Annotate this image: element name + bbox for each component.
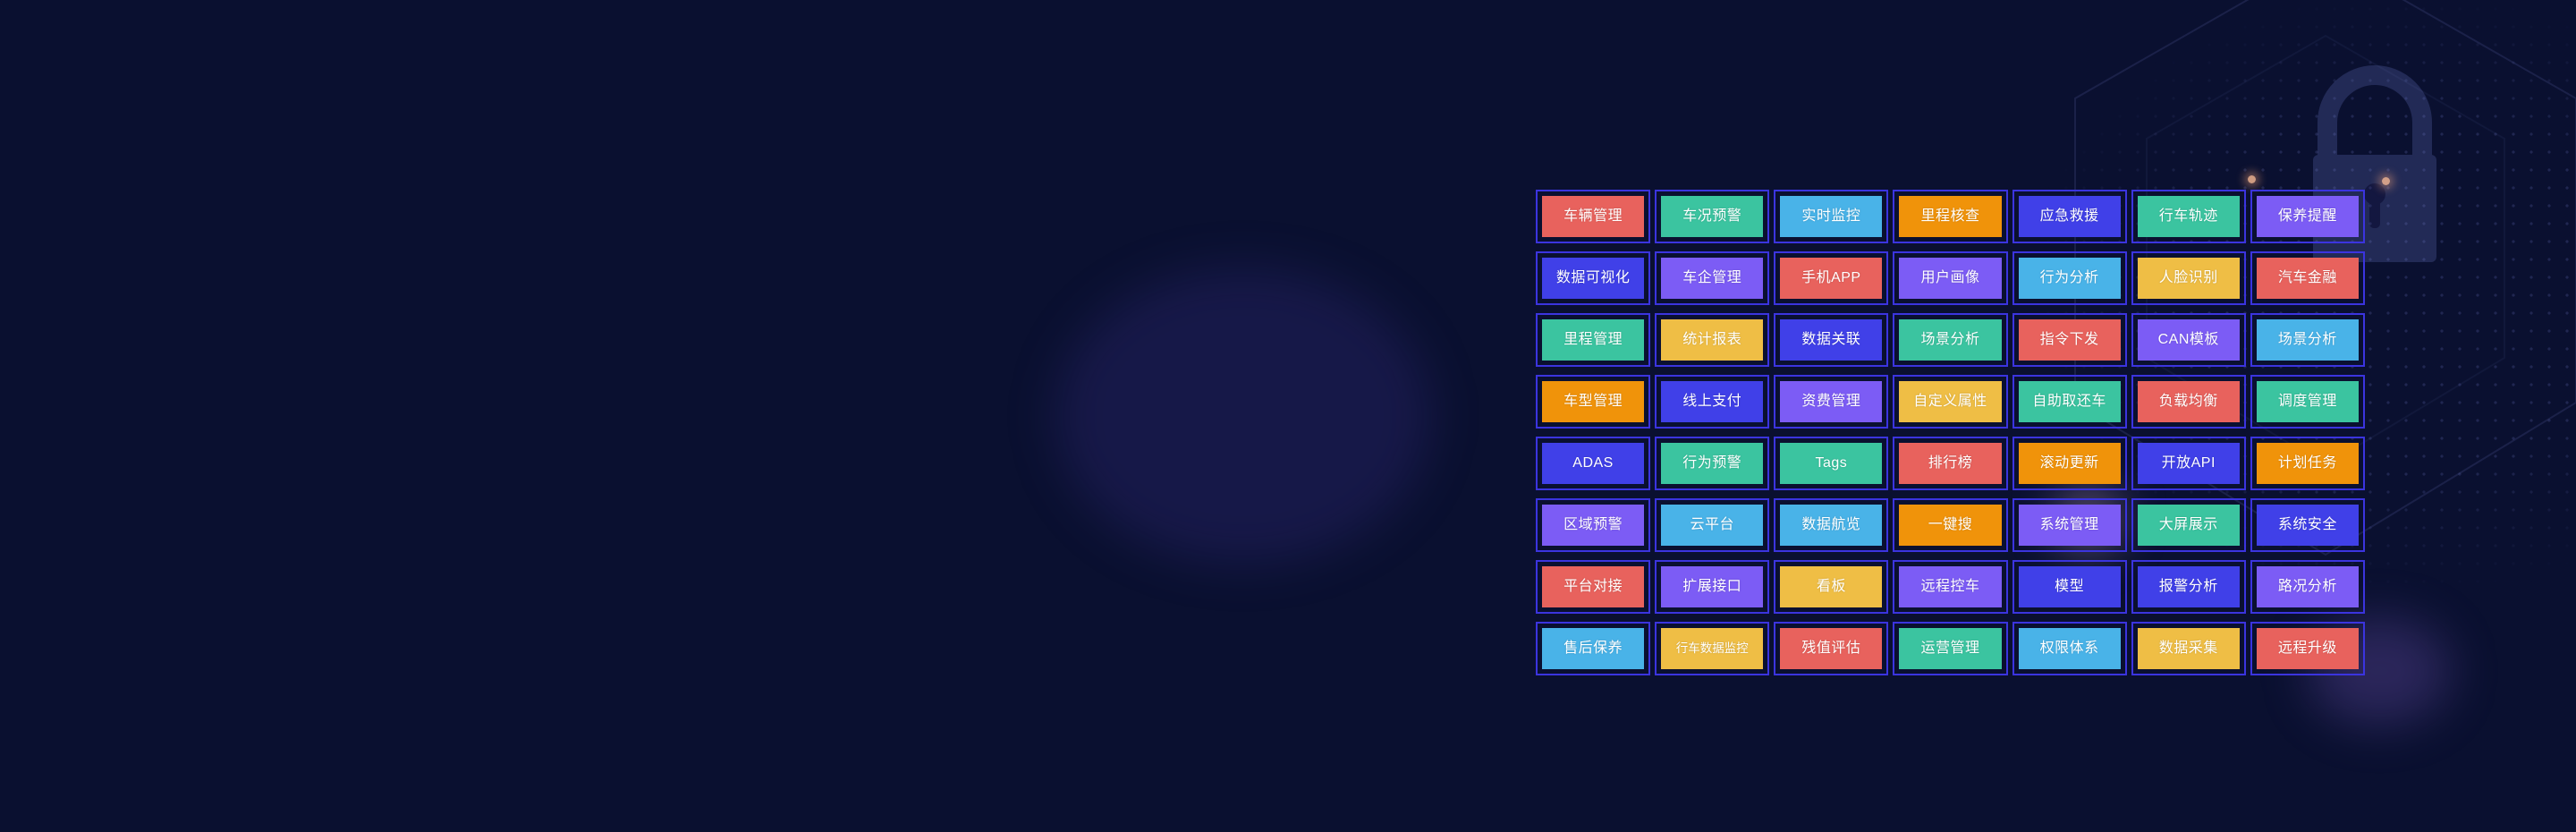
feature-tile-label: 系统安全 [2278, 518, 2337, 532]
feature-tile[interactable]: 权限体系 [2012, 622, 2127, 675]
feature-tile-fill: 计划任务 [2257, 443, 2359, 484]
feature-tile[interactable]: 保养提醒 [2250, 190, 2365, 243]
feature-tile[interactable]: 人脸识别 [2131, 251, 2246, 305]
feature-tile-fill: 车型管理 [1542, 381, 1644, 422]
feature-tile-label: 数据航览 [1801, 518, 1860, 532]
feature-tile-label: 场景分析 [2278, 333, 2337, 347]
feature-tile-label: 汽车金融 [2278, 271, 2337, 285]
feature-tile[interactable]: 行为分析 [2012, 251, 2127, 305]
feature-tile-fill: 场景分析 [2257, 319, 2359, 361]
feature-tile-label: 行为预警 [1682, 456, 1741, 471]
feature-tile[interactable]: 场景分析 [1893, 313, 2007, 367]
feature-tile[interactable]: 远程控车 [1893, 560, 2007, 614]
feature-tile[interactable]: 看板 [1774, 560, 1888, 614]
feature-tile-label: 模型 [2055, 580, 2084, 594]
feature-tile-fill: 大屏展示 [2138, 505, 2240, 546]
feature-tile-fill: 调度管理 [2257, 381, 2359, 422]
feature-tile-fill: 售后保养 [1542, 628, 1644, 669]
feature-tile[interactable]: 运营管理 [1893, 622, 2007, 675]
feature-tile[interactable]: 指令下发 [2012, 313, 2127, 367]
feature-tile-label: 线上支付 [1682, 395, 1741, 409]
feature-tile-label: 排行榜 [1928, 456, 1973, 471]
feature-tile-fill: ADAS [1542, 443, 1644, 484]
feature-tile-fill: CAN模板 [2138, 319, 2240, 361]
feature-tile-label: Tags [1815, 456, 1847, 471]
feature-tile[interactable]: 用户画像 [1893, 251, 2007, 305]
feature-tile-label: 数据采集 [2159, 641, 2218, 656]
feature-tile[interactable]: 资费管理 [1774, 375, 1888, 429]
feature-tile[interactable]: 开放API [2131, 437, 2246, 490]
page-root: 车辆管理车况预警实时监控里程核查应急救援行车轨迹保养提醒数据可视化车企管理手机A… [0, 0, 2576, 832]
decor-glow-c [1055, 268, 1431, 564]
feature-tile[interactable]: 计划任务 [2250, 437, 2365, 490]
feature-tile-fill: 资费管理 [1780, 381, 1882, 422]
feature-tile-label: 权限体系 [2040, 641, 2099, 656]
feature-tile[interactable]: 数据航览 [1774, 498, 1888, 552]
feature-tile[interactable]: 汽车金融 [2250, 251, 2365, 305]
feature-tile[interactable]: 里程管理 [1536, 313, 1650, 367]
feature-tile-label: 用户画像 [1920, 271, 1979, 285]
feature-tile-label: 行车轨迹 [2159, 209, 2218, 224]
feature-tile-fill: 车辆管理 [1542, 196, 1644, 237]
feature-tile-label: 里程管理 [1563, 333, 1623, 347]
feature-tile[interactable]: 排行榜 [1893, 437, 2007, 490]
feature-tile-label: CAN模板 [2158, 333, 2219, 347]
feature-tile-label: 负载均衡 [2159, 395, 2218, 409]
feature-tile-fill: 人脸识别 [2138, 258, 2240, 299]
feature-tile[interactable]: 滚动更新 [2012, 437, 2127, 490]
feature-tile-fill: 数据可视化 [1542, 258, 1644, 299]
feature-tile[interactable]: 场景分析 [2250, 313, 2365, 367]
feature-tile-fill: 云平台 [1661, 505, 1763, 546]
feature-tile-fill: 开放API [2138, 443, 2240, 484]
decor-node-b [2382, 177, 2390, 185]
feature-tile-fill: 统计报表 [1661, 319, 1763, 361]
feature-tile-label: 报警分析 [2159, 580, 2218, 594]
feature-tile-fill: 线上支付 [1661, 381, 1763, 422]
feature-tile-label: 运营管理 [1920, 641, 1979, 656]
feature-tile[interactable]: 行车数据监控 [1655, 622, 1769, 675]
feature-tile[interactable]: 调度管理 [2250, 375, 2365, 429]
feature-tile-label: 指令下发 [2040, 333, 2099, 347]
feature-tile-label: 统计报表 [1682, 333, 1741, 347]
feature-tile-fill: 车况预警 [1661, 196, 1763, 237]
feature-tile[interactable]: CAN模板 [2131, 313, 2246, 367]
feature-tile[interactable]: 模型 [2012, 560, 2127, 614]
feature-tile-label: ADAS [1572, 456, 1614, 471]
feature-tile-fill: 系统安全 [2257, 505, 2359, 546]
feature-tile-fill: 滚动更新 [2019, 443, 2121, 484]
feature-tile-label: 场景分析 [1920, 333, 1979, 347]
feature-tile-fill: 区域预警 [1542, 505, 1644, 546]
feature-tile-fill: 平台对接 [1542, 566, 1644, 607]
feature-tile-fill: 模型 [2019, 566, 2121, 607]
feature-tile-label: 车辆管理 [1563, 209, 1623, 224]
feature-tile-fill: 行为预警 [1661, 443, 1763, 484]
feature-tile[interactable]: 车辆管理 [1536, 190, 1650, 243]
feature-tile[interactable]: 线上支付 [1655, 375, 1769, 429]
feature-tile-fill: 实时监控 [1780, 196, 1882, 237]
feature-tile[interactable]: 手机APP [1774, 251, 1888, 305]
feature-tile-fill: 数据采集 [2138, 628, 2240, 669]
feature-tile-label: 远程控车 [1920, 580, 1979, 594]
feature-tile-fill: 一键搜 [1899, 505, 2001, 546]
feature-tile[interactable]: 报警分析 [2131, 560, 2246, 614]
feature-tile-label: 保养提醒 [2278, 209, 2337, 224]
feature-tile-label: 开放API [2162, 456, 2216, 471]
feature-tile-fill: 行为分析 [2019, 258, 2121, 299]
feature-tile-label: 售后保养 [1563, 641, 1623, 656]
feature-tile-label: 看板 [1817, 580, 1846, 594]
feature-tile-label: 滚动更新 [2040, 456, 2099, 471]
feature-tile-label: 里程核查 [1920, 209, 1979, 224]
feature-tile-label: 调度管理 [2278, 395, 2337, 409]
feature-tile-label: 自助取还车 [2032, 395, 2106, 409]
feature-tile-label: 大屏展示 [2159, 518, 2218, 532]
feature-tile-fill: 系统管理 [2019, 505, 2121, 546]
feature-tile-label: 实时监控 [1801, 209, 1860, 224]
feature-tile-fill: 车企管理 [1661, 258, 1763, 299]
feature-tile[interactable]: 自助取还车 [2012, 375, 2127, 429]
feature-tile-fill: 远程控车 [1899, 566, 2001, 607]
feature-tile-fill: 看板 [1780, 566, 1882, 607]
feature-tile-label: 行车数据监控 [1676, 642, 1749, 655]
feature-tile-label: 手机APP [1801, 271, 1861, 285]
feature-tile-fill: 应急救援 [2019, 196, 2121, 237]
feature-tile-label: 车况预警 [1682, 209, 1741, 224]
feature-tile-label: 应急救援 [2040, 209, 2099, 224]
feature-tile-fill: 残值评估 [1780, 628, 1882, 669]
feature-tile-fill: 数据航览 [1780, 505, 1882, 546]
feature-tile-fill: 保养提醒 [2257, 196, 2359, 237]
feature-tile-fill: 数据关联 [1780, 319, 1882, 361]
feature-tile-fill: 自助取还车 [2019, 381, 2121, 422]
feature-tile[interactable]: 售后保养 [1536, 622, 1650, 675]
feature-tile-label: 行为分析 [2040, 271, 2099, 285]
feature-tile[interactable]: 行为预警 [1655, 437, 1769, 490]
feature-tile-fill: 里程管理 [1542, 319, 1644, 361]
feature-tile-label: 车企管理 [1682, 271, 1741, 285]
feature-tile[interactable]: 数据关联 [1774, 313, 1888, 367]
feature-tile-fill: 运营管理 [1899, 628, 2001, 669]
feature-tile[interactable]: 大屏展示 [2131, 498, 2246, 552]
feature-tile[interactable]: 车况预警 [1655, 190, 1769, 243]
feature-tile-fill: 报警分析 [2138, 566, 2240, 607]
feature-tile-label: 车型管理 [1563, 395, 1623, 409]
feature-tile[interactable]: 云平台 [1655, 498, 1769, 552]
feature-tile-label: 计划任务 [2278, 456, 2337, 471]
feature-tile-label: 扩展接口 [1682, 580, 1741, 594]
feature-tile-label: 远程升级 [2278, 641, 2337, 656]
feature-tile-label: 云平台 [1690, 518, 1734, 532]
feature-tile-fill: 汽车金融 [2257, 258, 2359, 299]
feature-tile-fill: 自定义属性 [1899, 381, 2001, 422]
feature-tile-fill: 行车数据监控 [1661, 628, 1763, 669]
feature-tile[interactable]: 统计报表 [1655, 313, 1769, 367]
feature-tile-fill: 场景分析 [1899, 319, 2001, 361]
feature-tile[interactable]: 扩展接口 [1655, 560, 1769, 614]
feature-tile[interactable]: 远程升级 [2250, 622, 2365, 675]
feature-tile-label: 人脸识别 [2159, 271, 2218, 285]
feature-tile-label: 平台对接 [1563, 580, 1623, 594]
feature-tile[interactable]: 一键搜 [1893, 498, 2007, 552]
feature-tile-label: 数据可视化 [1556, 271, 1631, 285]
feature-tile-label: 区域预警 [1563, 518, 1623, 532]
feature-tile-label: 资费管理 [1801, 395, 1860, 409]
feature-tile-fill: 负载均衡 [2138, 381, 2240, 422]
feature-tile[interactable]: 平台对接 [1536, 560, 1650, 614]
feature-tile-fill: 用户画像 [1899, 258, 2001, 299]
feature-tile-fill: 权限体系 [2019, 628, 2121, 669]
feature-tile-label: 一键搜 [1928, 518, 1973, 532]
feature-tile[interactable]: Tags [1774, 437, 1888, 490]
feature-tile-fill: 扩展接口 [1661, 566, 1763, 607]
feature-tile[interactable]: 系统安全 [2250, 498, 2365, 552]
feature-tile-fill: 行车轨迹 [2138, 196, 2240, 237]
feature-tile-fill: 排行榜 [1899, 443, 2001, 484]
feature-tile[interactable]: 区域预警 [1536, 498, 1650, 552]
feature-tile[interactable]: 应急救援 [2012, 190, 2127, 243]
feature-tile[interactable]: 残值评估 [1774, 622, 1888, 675]
decor-node-a [2248, 175, 2256, 183]
feature-tile[interactable]: 负载均衡 [2131, 375, 2246, 429]
feature-tile[interactable]: 车型管理 [1536, 375, 1650, 429]
feature-tile-fill: 路况分析 [2257, 566, 2359, 607]
feature-tile-label: 自定义属性 [1913, 395, 1987, 409]
feature-tile-fill: 指令下发 [2019, 319, 2121, 361]
feature-tile-fill: 里程核查 [1899, 196, 2001, 237]
feature-tile[interactable]: 里程核查 [1893, 190, 2007, 243]
feature-tile-grid: 车辆管理车况预警实时监控里程核查应急救援行车轨迹保养提醒数据可视化车企管理手机A… [1536, 190, 2365, 675]
feature-tile[interactable]: 数据采集 [2131, 622, 2246, 675]
feature-tile[interactable]: 行车轨迹 [2131, 190, 2246, 243]
feature-tile[interactable]: ADAS [1536, 437, 1650, 490]
feature-tile[interactable]: 车企管理 [1655, 251, 1769, 305]
feature-tile-fill: 手机APP [1780, 258, 1882, 299]
feature-tile[interactable]: 系统管理 [2012, 498, 2127, 552]
feature-tile-label: 系统管理 [2040, 518, 2099, 532]
feature-tile[interactable]: 自定义属性 [1893, 375, 2007, 429]
feature-tile[interactable]: 路况分析 [2250, 560, 2365, 614]
feature-tile-fill: 远程升级 [2257, 628, 2359, 669]
feature-tile[interactable]: 实时监控 [1774, 190, 1888, 243]
feature-tile-fill: Tags [1780, 443, 1882, 484]
feature-tile-label: 残值评估 [1801, 641, 1860, 656]
feature-tile[interactable]: 数据可视化 [1536, 251, 1650, 305]
feature-tile-label: 路况分析 [2278, 580, 2337, 594]
feature-tile-label: 数据关联 [1801, 333, 1860, 347]
